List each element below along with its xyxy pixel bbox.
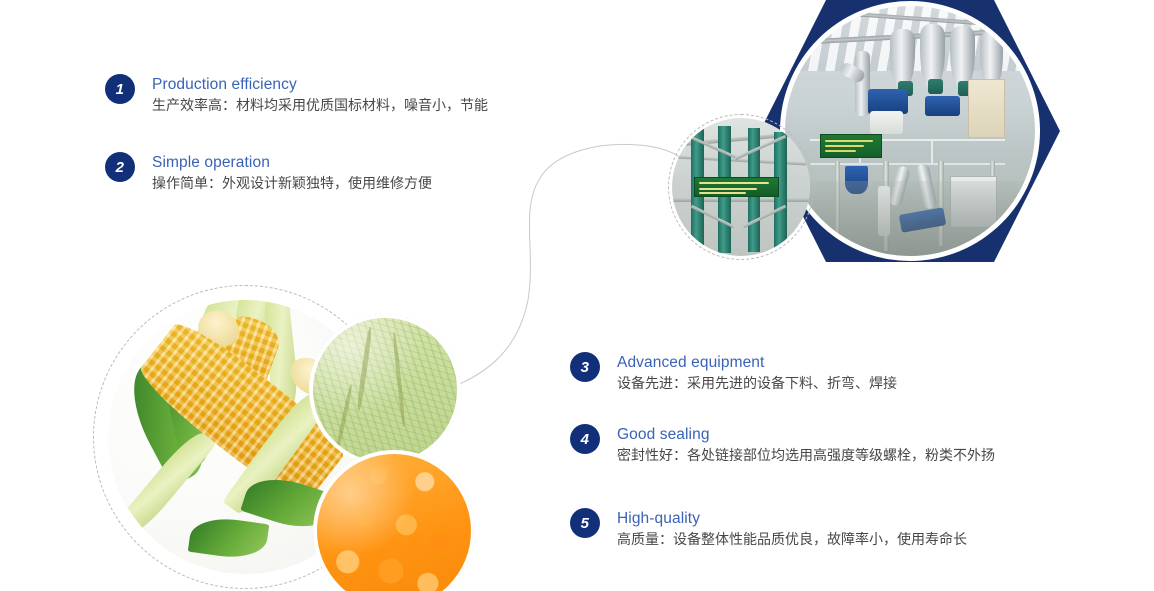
feature-badge-2: 2 xyxy=(105,152,135,182)
promo-infographic-page: 1 Production efficiency 生产效率高：材料均采用优质国标材… xyxy=(0,0,1154,591)
feature-badge-5: 5 xyxy=(570,508,600,538)
equipment-photo-circle xyxy=(672,118,810,256)
feature-text-4: Good sealing 密封性好：各处链接部位均选用高强度等级螺栓，粉类不外扬 xyxy=(617,424,995,466)
paste-photo-background xyxy=(313,318,457,462)
feature-title-3: Advanced equipment xyxy=(617,353,897,372)
feature-description-5: 高质量：设备整体性能品质优良，故障率小，使用寿命长 xyxy=(617,529,967,550)
feature-title-5: High-quality xyxy=(617,509,967,528)
equipment-banner-sign xyxy=(694,177,779,197)
mill-floor xyxy=(785,181,1035,256)
mill-hopper xyxy=(868,89,908,114)
feature-description-1: 生产效率高：材料均采用优质国标材料，噪音小，节能 xyxy=(152,95,488,116)
feature-text-2: Simple operation 操作简单：外观设计新颖独特，使用维修方便 xyxy=(152,152,432,194)
feature-item-4: 4 Good sealing 密封性好：各处链接部位均选用高强度等级螺栓，粉类不… xyxy=(570,424,995,466)
feature-badge-3: 3 xyxy=(570,352,600,382)
mill-motor xyxy=(928,79,943,94)
kernels-photo-background xyxy=(317,454,471,591)
feature-item-2: 2 Simple operation 操作简单：外观设计新颖独特，使用维修方便 xyxy=(105,152,432,194)
mill-hopper xyxy=(925,96,960,116)
feature-text-3: Advanced equipment 设备先进：采用先进的设备下料、折弯、焊接 xyxy=(617,352,897,394)
feature-title-2: Simple operation xyxy=(152,153,432,172)
feature-text-5: High-quality 高质量：设备整体性能品质优良，故障率小，使用寿命长 xyxy=(617,508,967,550)
feature-text-1: Production efficiency 生产效率高：材料均采用优质国标材料，… xyxy=(152,74,488,116)
feature-description-2: 操作简单：外观设计新颖独特，使用维修方便 xyxy=(152,173,432,194)
feature-item-5: 5 High-quality 高质量：设备整体性能品质优良，故障率小，使用寿命长 xyxy=(570,508,967,550)
mill-cyclone xyxy=(890,29,915,89)
kernels-photo-circle xyxy=(317,454,471,591)
factory-photo-circle xyxy=(785,6,1035,256)
mill-control-panel xyxy=(968,79,1005,139)
feature-item-3: 3 Advanced equipment 设备先进：采用先进的设备下料、折弯、焊… xyxy=(570,352,897,394)
feature-description-4: 密封性好：各处链接部位均选用高强度等级螺栓，粉类不外扬 xyxy=(617,445,995,466)
feature-badge-4: 4 xyxy=(570,424,600,454)
feature-badge-1: 1 xyxy=(105,74,135,104)
feature-title-1: Production efficiency xyxy=(152,75,488,94)
feature-title-4: Good sealing xyxy=(617,425,995,444)
paste-photo-circle xyxy=(313,318,457,462)
feature-item-1: 1 Production efficiency 生产效率高：材料均采用优质国标材… xyxy=(105,74,488,116)
mill-sack xyxy=(870,111,903,134)
feature-description-3: 设备先进：采用先进的设备下料、折弯、焊接 xyxy=(617,373,897,394)
mill-banner-sign xyxy=(820,134,882,159)
